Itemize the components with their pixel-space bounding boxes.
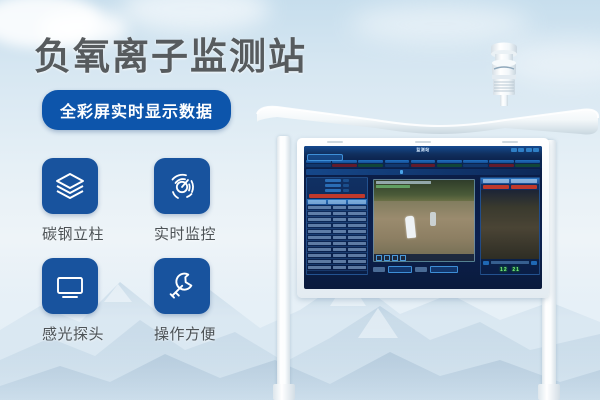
feature-label: 实时监控 [154, 223, 210, 244]
feature-item-carbon-steel-column[interactable]: 碳钢立柱 [42, 158, 98, 244]
filter-label [415, 267, 427, 272]
weather-sensor-icon [479, 40, 529, 106]
dashboard-header: 监测站 [304, 146, 542, 159]
kpi-card [332, 160, 357, 167]
banner-stage: 监测站 [0, 0, 600, 400]
feature-tile[interactable] [42, 258, 98, 314]
feature-label: 操作方便 [154, 323, 210, 344]
camera-record-icon[interactable] [392, 255, 398, 261]
kpi-card [489, 160, 514, 167]
radar-monitor-icon [166, 170, 198, 202]
camera-center-panel [370, 177, 478, 275]
kpi-card [437, 160, 462, 167]
feature-label: 感光探头 [42, 323, 98, 344]
filter-select[interactable] [388, 266, 412, 273]
dashboard-toolbar[interactable] [511, 148, 540, 152]
camera-control-bar[interactable] [374, 254, 474, 261]
camera-fullscreen-icon[interactable] [400, 255, 406, 261]
camera-right-panel: 12 21 [480, 177, 540, 275]
layers-icon [54, 170, 86, 202]
control-icon[interactable] [531, 261, 537, 265]
login-chip[interactable] [307, 154, 343, 161]
progress-strip [306, 169, 540, 175]
page-title: 负氧离子监测站 [34, 26, 307, 80]
toolbar-icon[interactable] [511, 148, 517, 152]
alert-bar [309, 194, 365, 198]
control-label [491, 261, 529, 264]
pillar-base-left [273, 384, 295, 400]
camera-osd-subtext [376, 185, 410, 188]
control-icon[interactable] [483, 261, 489, 265]
kpi-card [515, 160, 540, 167]
camera-snapshot-icon[interactable] [384, 255, 390, 261]
feature-tile[interactable] [42, 158, 98, 214]
camera-subject-person [405, 215, 416, 238]
toolbar-icon[interactable] [533, 148, 539, 152]
dashboard-body: 12 21 [304, 176, 542, 277]
feature-row: 碳钢立柱 [42, 158, 257, 244]
mini-stat-row [307, 188, 367, 193]
cloud-shape [350, 4, 530, 44]
dashboard-screen: 监测站 [304, 146, 542, 289]
dashboard-title: 监测站 [416, 147, 429, 153]
kpi-card [411, 160, 436, 167]
kpi-card [385, 160, 410, 167]
camera-osd-text [376, 181, 431, 184]
camera-filter-row[interactable] [370, 264, 478, 275]
led-screen-frame: 监测站 [297, 138, 549, 298]
kpi-card [358, 160, 383, 167]
toolbar-icon[interactable] [526, 148, 532, 152]
right-control-row[interactable] [481, 259, 539, 266]
wrench-icon [166, 270, 198, 302]
table-row[interactable] [307, 265, 367, 271]
vent-slot [415, 141, 431, 143]
camera-feed-secondary[interactable] [481, 190, 539, 260]
monitoring-station: 监测站 [255, 40, 600, 400]
vent-slot [327, 141, 343, 143]
feature-tile[interactable] [154, 258, 210, 314]
pillar-base-right [538, 384, 560, 400]
subtitle-badge: 全彩屏实时显示数据 [42, 90, 231, 130]
display-monitor-icon [54, 270, 86, 302]
reading-value: 12 21 [481, 266, 539, 274]
feature-row: 感光探头 操作方便 [42, 258, 257, 344]
kpi-card [463, 160, 488, 167]
filter-select[interactable] [430, 266, 458, 273]
feature-item-easy-operation[interactable]: 操作方便 [154, 258, 210, 344]
vent-slot [502, 141, 518, 143]
feature-item-light-sensor-probe[interactable]: 感光探头 [42, 258, 98, 344]
camera-subject-secondary [430, 212, 436, 226]
feature-label: 碳钢立柱 [42, 223, 98, 244]
toolbar-icon[interactable] [518, 148, 524, 152]
feature-item-realtime-monitoring[interactable]: 实时监控 [154, 158, 210, 244]
filter-label [373, 267, 385, 272]
camera-feed-primary[interactable] [373, 179, 475, 262]
support-pillar-left [277, 136, 290, 400]
data-table-panel [306, 177, 368, 275]
feature-tile[interactable] [154, 158, 210, 214]
camera-play-icon[interactable] [376, 255, 382, 261]
kpi-card [306, 160, 331, 167]
feature-grid: 碳钢立柱 [42, 158, 257, 358]
